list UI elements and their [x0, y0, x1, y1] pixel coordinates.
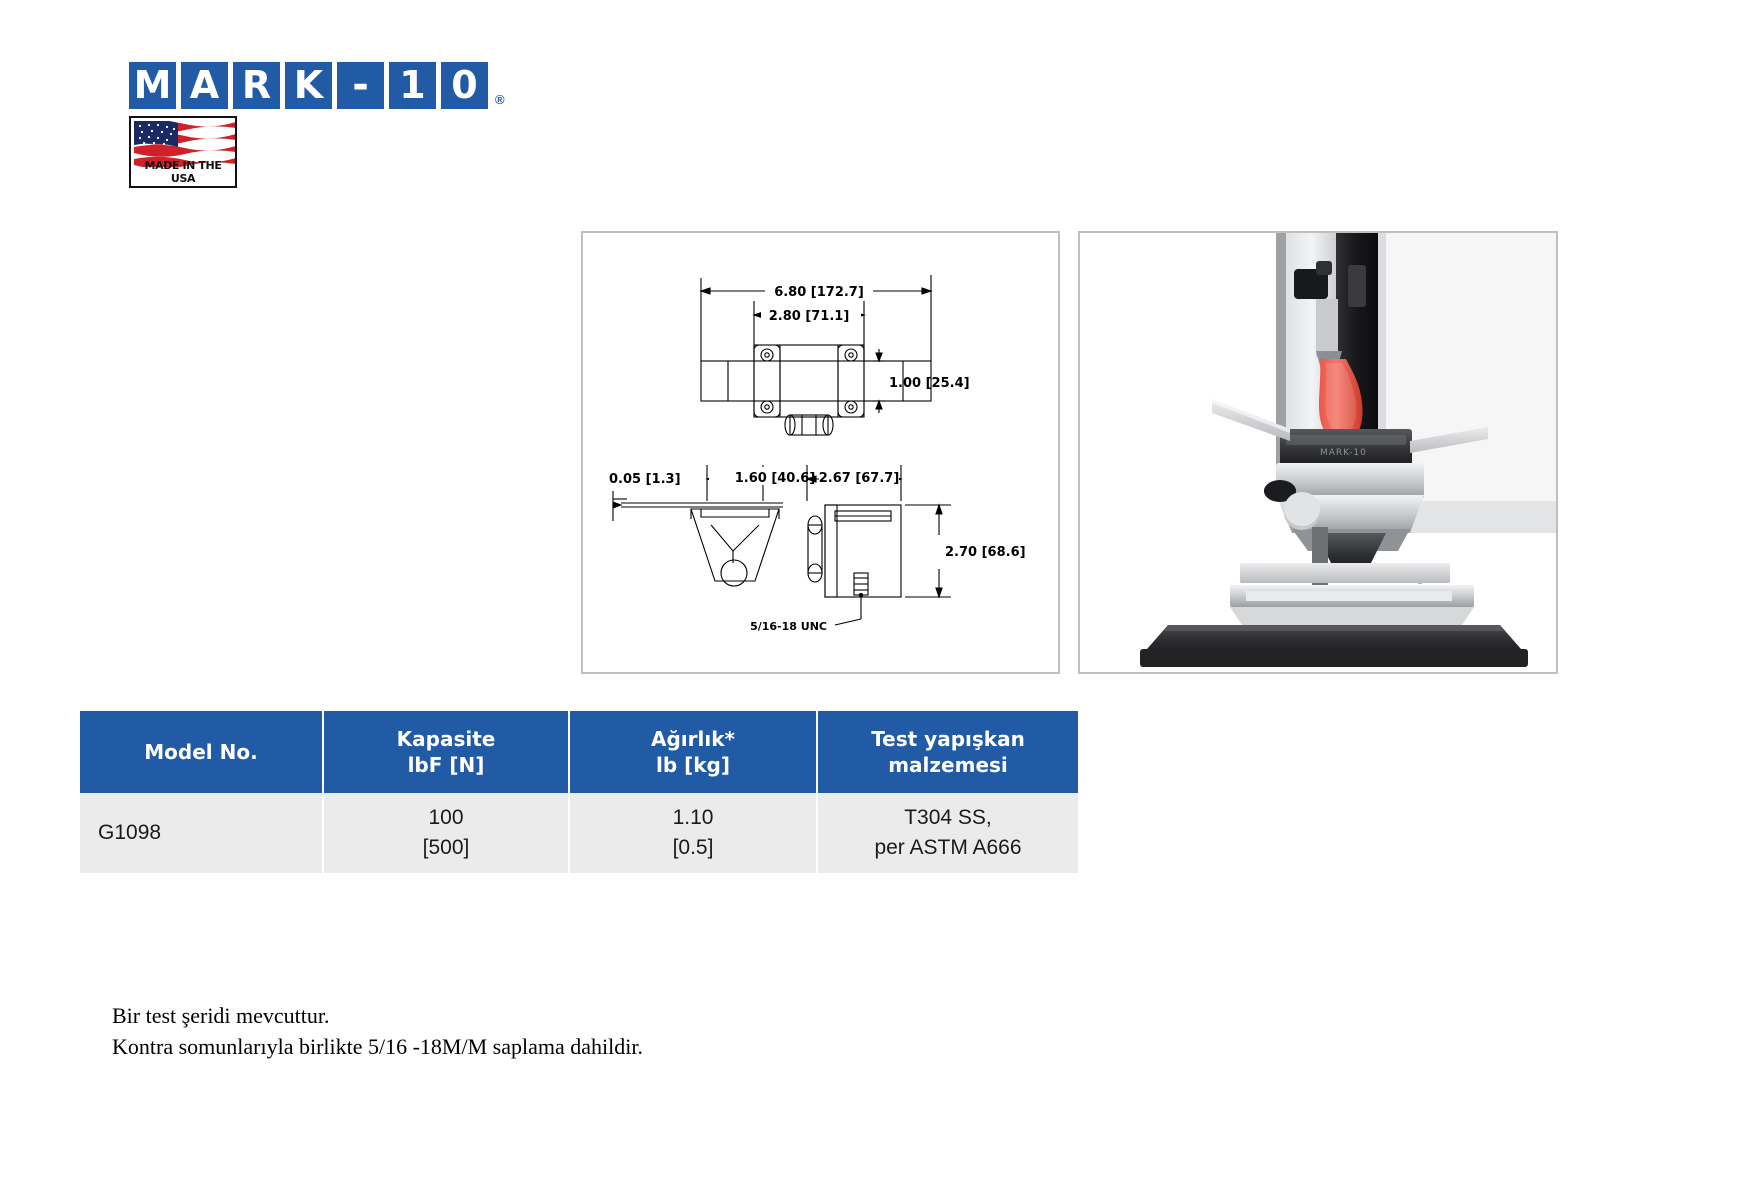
- registered-trademark-icon: ®: [495, 92, 505, 107]
- logo-tile-r: R: [233, 62, 280, 109]
- cell-material-line1: T304 SS,: [824, 803, 1072, 833]
- cell-material-line2: per ASTM A666: [824, 833, 1072, 863]
- dimension-height: 1.00 [25.4]: [889, 376, 970, 391]
- footnote-line-1: Bir test şeridi mevcuttur.: [112, 1000, 643, 1031]
- logo-wordmark: M A R K - 1 0 ®: [129, 62, 505, 109]
- logo-tile-a: A: [181, 62, 228, 109]
- header-model-line1: Model No.: [86, 739, 316, 765]
- logo-tile-k: K: [285, 62, 332, 109]
- footnote-line-2: Kontra somunlarıyla birlikte 5/16 -18M/M…: [112, 1031, 643, 1062]
- header-capacity-line1: Kapasite: [330, 726, 562, 752]
- logo-tile-m: M: [129, 62, 176, 109]
- cell-weight-line2: [0.5]: [576, 833, 810, 863]
- header-material-line2: malzemesi: [824, 752, 1072, 778]
- column-header-weight: Ağırlık* lb [kg]: [570, 711, 816, 793]
- column-header-model: Model No.: [80, 711, 322, 793]
- dimension-thickness: 0.05 [1.3]: [609, 472, 681, 487]
- dimension-jaw-width: 1.60 [40.6]: [735, 471, 816, 486]
- footnotes: Bir test şeridi mevcuttur. Kontra somunl…: [112, 1000, 643, 1062]
- cell-weight-line1: 1.10: [576, 803, 810, 833]
- dimension-side-width: 2.67 [67.7]: [819, 471, 900, 486]
- specifications-table: Model No. Kapasite lbF [N] Ağırlık* lb […: [78, 711, 1080, 873]
- dimension-overall-width: 6.80 [172.7]: [774, 285, 864, 300]
- logo-tile-zero: 0: [441, 62, 488, 109]
- header-material-line1: Test yapışkan: [824, 726, 1072, 752]
- cell-capacity: 100 [500]: [324, 793, 568, 873]
- cell-model: G1098: [80, 793, 322, 873]
- product-photo-svg: MARK-10: [1080, 233, 1556, 672]
- dimension-side-height: 2.70 [68.6]: [945, 545, 1026, 560]
- made-in-usa-label: MADE IN THE USA: [131, 159, 235, 185]
- cell-weight: 1.10 [0.5]: [570, 793, 816, 873]
- header-capacity-line2: lbF [N]: [330, 752, 562, 778]
- technical-drawing-panel: 6.80 [172.7] 2.80 [71.1] 1.00 [25.4] 0.0…: [581, 231, 1060, 674]
- cell-capacity-line2: [500]: [330, 833, 562, 863]
- svg-text:MARK-10: MARK-10: [1320, 448, 1367, 458]
- callout-thread-label: 5/16-18 UNC: [750, 620, 827, 633]
- logo-tile-dash: -: [337, 62, 384, 109]
- product-photo-panel: MARK-10: [1078, 231, 1558, 674]
- brand-logo: M A R K - 1 0 ®: [129, 62, 505, 109]
- column-header-material: Test yapışkan malzemesi: [818, 711, 1078, 793]
- technical-drawing-svg: 6.80 [172.7] 2.80 [71.1] 1.00 [25.4] 0.0…: [583, 233, 1058, 672]
- cell-material: T304 SS, per ASTM A666: [818, 793, 1078, 873]
- table-header-row: Model No. Kapasite lbF [N] Ağırlık* lb […: [80, 711, 1078, 793]
- column-header-capacity: Kapasite lbF [N]: [324, 711, 568, 793]
- header-weight-line2: lb [kg]: [576, 752, 810, 778]
- table-row: G1098 100 [500] 1.10 [0.5] T304 SS, per …: [80, 793, 1078, 873]
- dimension-inner-width: 2.80 [71.1]: [769, 309, 850, 324]
- header-weight-line1: Ağırlık*: [576, 726, 810, 752]
- logo-tile-one: 1: [389, 62, 436, 109]
- cell-capacity-line1: 100: [330, 803, 562, 833]
- made-in-usa-badge: MADE IN THE USA: [129, 116, 237, 188]
